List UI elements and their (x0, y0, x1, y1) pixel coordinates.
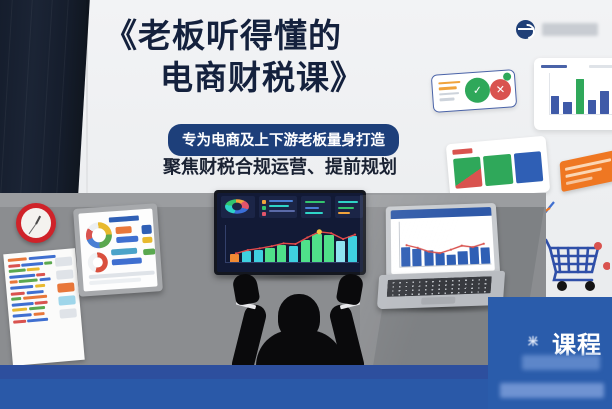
laptop-screen (391, 207, 495, 274)
course-panel: 米 课程 (488, 297, 612, 409)
tablet-block (141, 225, 152, 235)
widget-mini-card (335, 196, 363, 218)
bar (563, 102, 571, 115)
laptop-app-header (391, 207, 492, 219)
s-circle-logo-icon (516, 20, 535, 39)
macbook-laptop (378, 204, 504, 310)
trend-line (230, 226, 361, 262)
bar (576, 79, 584, 114)
report-side-block (58, 295, 76, 305)
brand-logo (516, 20, 598, 39)
laptop-keyboard (387, 276, 492, 297)
card-plot (541, 73, 612, 119)
report-side-block (55, 256, 73, 266)
report-side-block (59, 308, 77, 318)
shopping-cart-icon (538, 228, 610, 294)
card-text-lines (438, 81, 461, 104)
gauge-chart-icon (85, 221, 113, 249)
right-hand (336, 272, 365, 306)
laptop-base (377, 271, 505, 310)
printed-report (3, 248, 84, 366)
secondary-gauge-icon (87, 252, 108, 273)
laptop-trackpad (421, 296, 455, 304)
redacted-line-2 (500, 383, 604, 398)
tablet-block (143, 248, 155, 255)
left-hand (232, 272, 261, 306)
promo-banner: 《老板听得懂的 电商财税课》 专为电商及上下游老板量身打造 聚焦财税合规运营、提… (0, 0, 612, 409)
green-check-icon: ✓ (464, 77, 491, 104)
wall-clock (16, 203, 56, 243)
doc-tag (452, 148, 472, 155)
main-chart-area (223, 225, 359, 268)
tablet-block (116, 236, 138, 244)
card-header (541, 65, 612, 68)
red-x-icon: ✕ (489, 78, 511, 100)
widget-kpi-card (259, 196, 297, 218)
widget-stats-card (301, 196, 331, 218)
title-line-1: 《老板听得懂的 (104, 16, 444, 56)
laptop-trend-line (401, 233, 490, 266)
redacted-line-1 (522, 355, 600, 370)
dashboard-screen (217, 193, 363, 272)
doc-blocks (453, 151, 543, 189)
tablet-screen (78, 209, 157, 292)
tablet-infographic (73, 203, 163, 297)
report-side-block (56, 269, 74, 279)
tablet-block (142, 237, 152, 244)
laptop-lid (386, 203, 500, 278)
analytics-bar-card (534, 58, 612, 130)
card-bars (551, 74, 612, 114)
subtitle: 聚焦财税合规运营、提前规划 (163, 153, 397, 179)
panel-prefix: 米 (528, 333, 538, 348)
desktop-dashboard (214, 190, 366, 275)
tablet-block (89, 277, 141, 285)
redacted-wordmark (542, 23, 598, 36)
bar (551, 96, 559, 114)
bar (600, 91, 608, 114)
revenue-donut-chart (225, 199, 249, 213)
title-line-2: 电商财税课》 (104, 56, 444, 100)
bar (588, 100, 596, 114)
tablet-block (111, 248, 137, 256)
badge-dot-icon (503, 72, 512, 81)
tablet-block (112, 257, 142, 265)
tablet-block (115, 226, 131, 234)
tablet-blocks (78, 209, 152, 214)
audience-pill: 专为电商及上下游老板量身打造 (168, 124, 399, 156)
page-title: 《老板听得懂的 电商财税课》 (104, 16, 444, 100)
compliance-check-card: ✓ ✕ (431, 69, 517, 113)
report-side-block (57, 282, 75, 292)
tablet-header-bar (109, 215, 139, 222)
